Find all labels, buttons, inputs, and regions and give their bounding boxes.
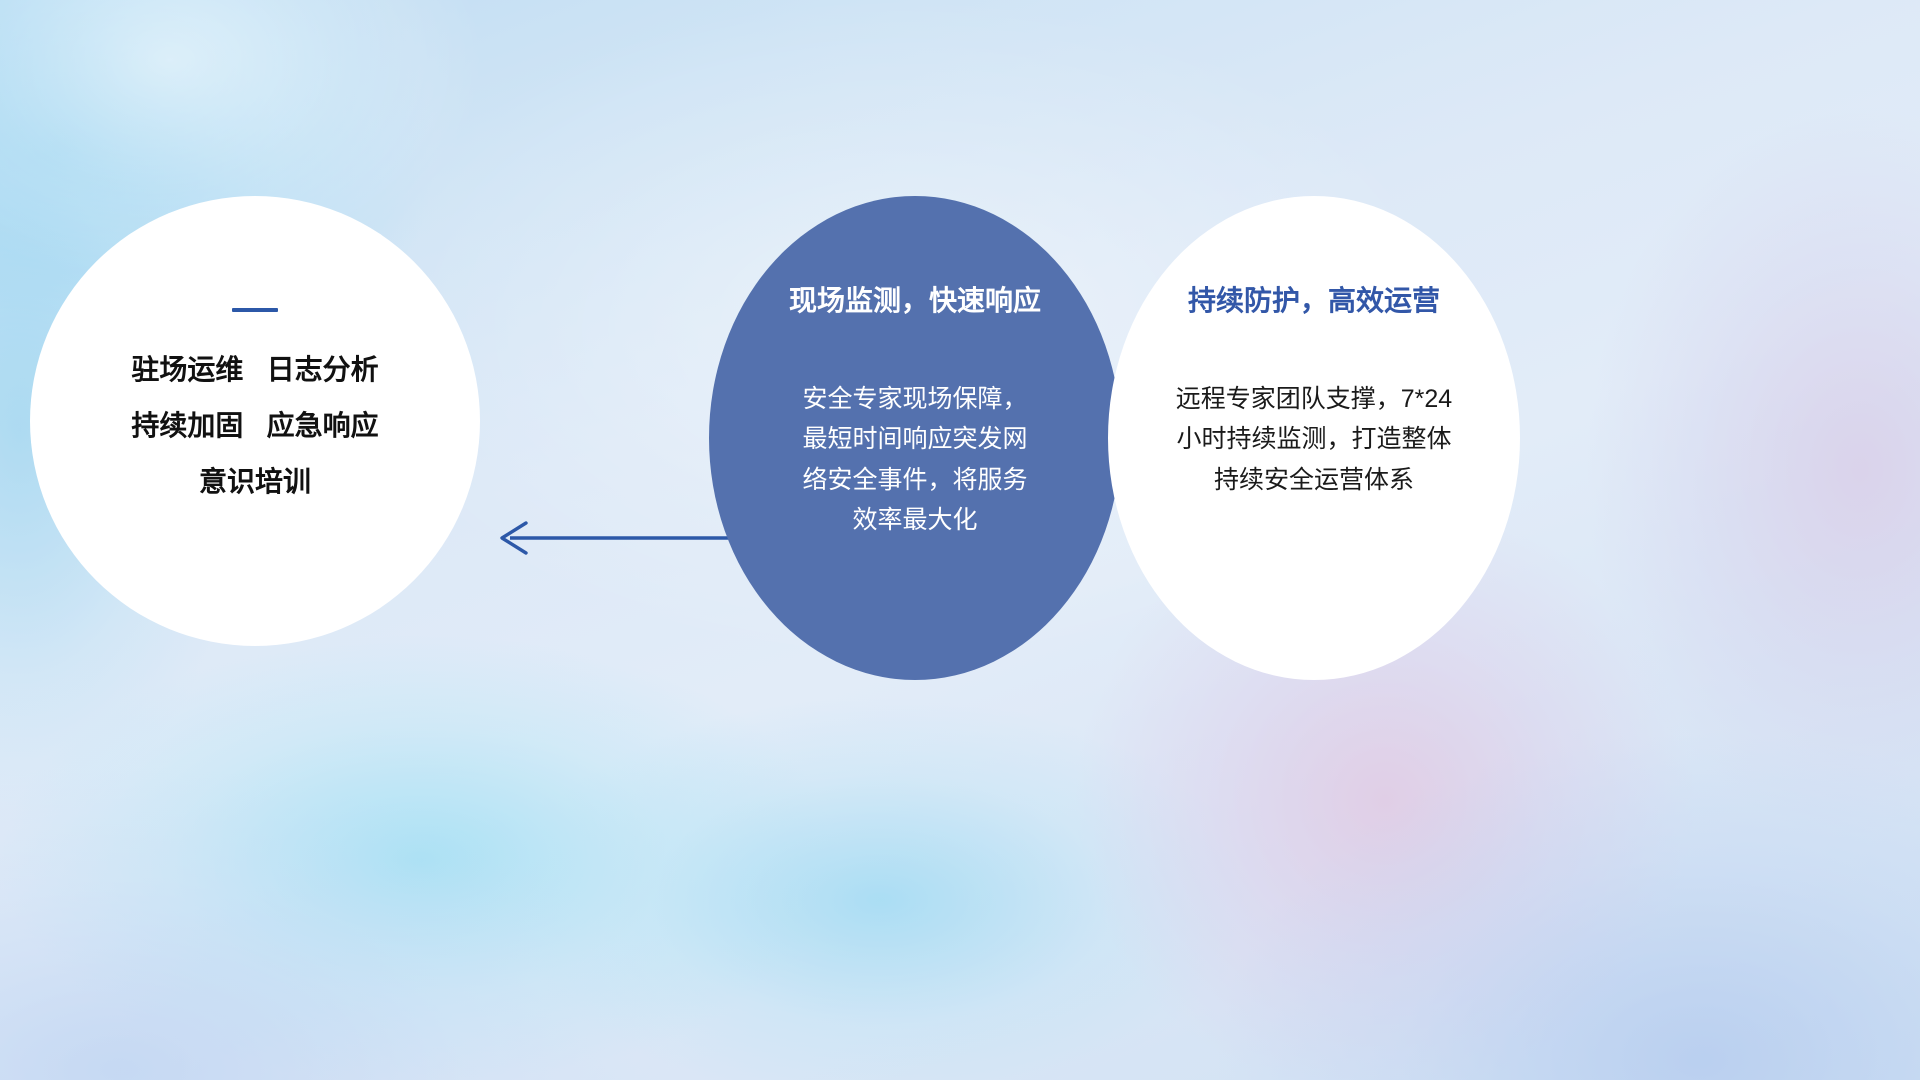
body-line: 安全专家现场保障，: [765, 379, 1065, 420]
service-circle-remote[interactable]: 持续防护，高效运营 远程专家团队支撑，7*24 小时持续监测，打造整体 持续安全…: [1108, 196, 1520, 680]
slide-canvas: 驻场运维 日志分析 持续加固 应急响应 意识培训 现场监测，快速响应 安全专家现…: [0, 0, 1920, 1080]
body-line: 络安全事件，将服务: [765, 460, 1065, 501]
service-circle-onsite-body: 安全专家现场保障， 最短时间响应突发网 络安全事件，将服务 效率最大化: [765, 379, 1065, 541]
service-circle-remote-title: 持续防护，高效运营: [1188, 286, 1440, 317]
body-line: 远程专家团队支撑，7*24: [1164, 379, 1464, 420]
body-line: 最短时间响应突发网: [765, 419, 1065, 460]
capability-tag-list: 驻场运维 日志分析 持续加固 应急响应 意识培训: [131, 356, 378, 496]
service-circle-onsite-title: 现场监测，快速响应: [789, 286, 1041, 317]
body-line: 持续安全运营体系: [1164, 460, 1464, 501]
service-circle-onsite[interactable]: 现场监测，快速响应 安全专家现场保障， 最短时间响应突发网 络安全事件，将服务 …: [709, 196, 1121, 680]
capability-tag-row-3: 意识培训: [131, 468, 378, 496]
capability-tag-row-1: 驻场运维 日志分析: [131, 356, 378, 384]
body-line: 效率最大化: [765, 500, 1065, 541]
service-circle-remote-body: 远程专家团队支撑，7*24 小时持续监测，打造整体 持续安全运营体系: [1164, 379, 1464, 501]
capability-circle-left[interactable]: 驻场运维 日志分析 持续加固 应急响应 意识培训: [30, 196, 480, 646]
body-line: 小时持续监测，打造整体: [1164, 419, 1464, 460]
divider-dash-icon: [232, 308, 278, 312]
capability-tag-row-2: 持续加固 应急响应: [131, 412, 378, 440]
